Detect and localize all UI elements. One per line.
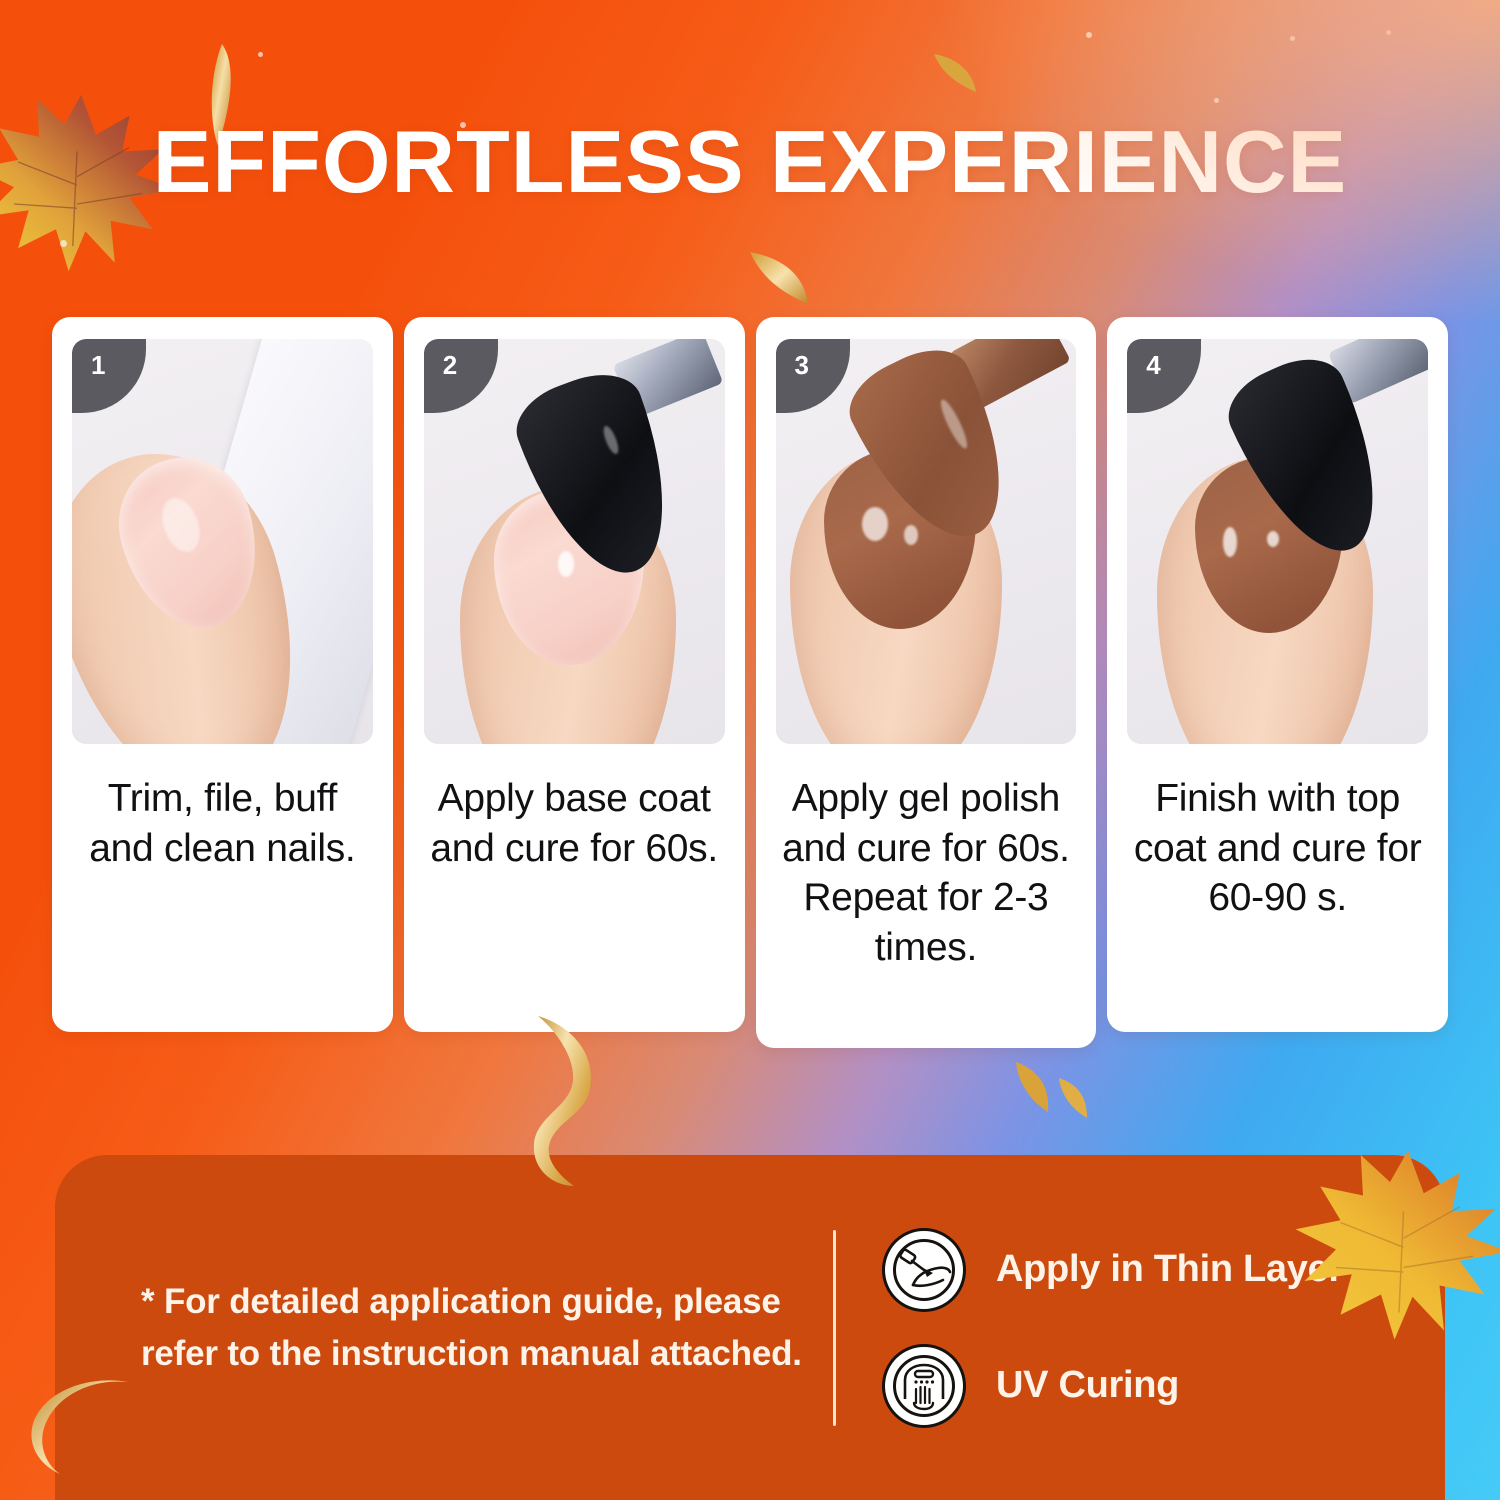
step-caption-3: Apply gel polish and cure for 60s. Repea… bbox=[776, 774, 1077, 972]
page-title: EFFORTLESS EXPERIENCE bbox=[0, 118, 1500, 206]
gold-ribbon-top-far-right bbox=[930, 52, 978, 98]
nail-highlight bbox=[558, 551, 574, 577]
steps-row: 1 Trim, file, buff and clean nails. 2 Ap… bbox=[52, 317, 1448, 1048]
feature-uv-curing: UV Curing bbox=[882, 1344, 1343, 1428]
step-photo-4: 4 bbox=[1127, 339, 1428, 744]
speckle bbox=[258, 52, 263, 57]
feature-list: Apply in Thin Layer bbox=[882, 1228, 1343, 1428]
feature-apply-thin-layer: Apply in Thin Layer bbox=[882, 1228, 1343, 1312]
step-photo-2: 2 bbox=[424, 339, 725, 744]
step-card-1[interactable]: 1 Trim, file, buff and clean nails. bbox=[52, 317, 393, 1032]
feature-label: Apply in Thin Layer bbox=[996, 1248, 1343, 1291]
gold-ribbon-mid-right bbox=[1055, 1076, 1091, 1120]
speckle bbox=[1086, 32, 1092, 38]
uv-lamp-curing-icon bbox=[882, 1344, 966, 1428]
footer-panel: * For detailed application guide, please… bbox=[55, 1155, 1445, 1500]
brush-thin-layer-icon bbox=[882, 1228, 966, 1312]
step-photo-1: 1 bbox=[72, 339, 373, 744]
step-caption-4: Finish with top coat and cure for 60-90 … bbox=[1127, 774, 1428, 923]
footer-note: * For detailed application guide, please… bbox=[103, 1276, 823, 1378]
step-photo-3: 3 bbox=[776, 339, 1077, 744]
gold-ribbon-top-right bbox=[742, 248, 814, 322]
gold-ribbon-panel-right bbox=[1010, 1060, 1054, 1116]
footer-divider bbox=[833, 1230, 836, 1426]
step-caption-2: Apply base coat and cure for 60s. bbox=[424, 774, 725, 873]
infographic-canvas: EFFORTLESS EXPERIENCE 1 Trim, file, buff… bbox=[0, 0, 1500, 1500]
speckle bbox=[1290, 36, 1295, 41]
speckle bbox=[1214, 98, 1219, 103]
speckle bbox=[60, 240, 67, 247]
feature-label: UV Curing bbox=[996, 1364, 1179, 1407]
step-card-4[interactable]: 4 Finish with top coat and cure for 60-9… bbox=[1107, 317, 1448, 1032]
polish-highlight bbox=[862, 507, 888, 541]
polish-highlight bbox=[904, 525, 918, 545]
speckle bbox=[1386, 30, 1391, 35]
step-caption-1: Trim, file, buff and clean nails. bbox=[72, 774, 373, 873]
step-card-3[interactable]: 3 Apply gel polish and cure for 60s. Rep… bbox=[756, 317, 1097, 1048]
step-card-2[interactable]: 2 Apply base coat and cure for 60s. bbox=[404, 317, 745, 1032]
